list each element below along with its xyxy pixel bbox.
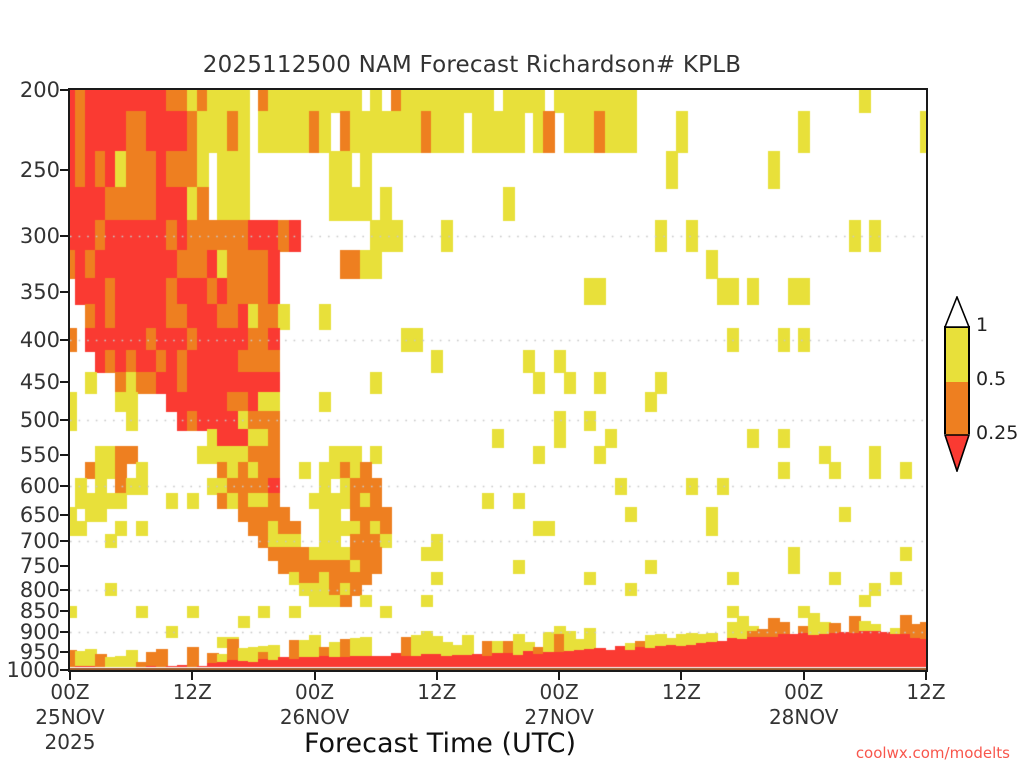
y-tick-label: 800 bbox=[2, 578, 60, 602]
y-tick-label: 250 bbox=[2, 158, 60, 182]
colorbar-tick-label: 0.25 bbox=[976, 422, 1018, 444]
heatmap-canvas bbox=[70, 90, 926, 670]
y-tick-label: 700 bbox=[2, 529, 60, 553]
x-tick-date: 27NOV bbox=[524, 705, 593, 730]
x-tick-label-group: 00Z26NOV bbox=[280, 680, 349, 730]
x-tick-time: 00Z bbox=[769, 680, 838, 705]
x-tick-time: 12Z bbox=[662, 680, 701, 705]
y-tick-mark bbox=[60, 651, 68, 653]
x-tick-label-group: 12Z bbox=[906, 680, 945, 705]
y-tick-mark bbox=[60, 485, 68, 487]
x-tick-time: 12Z bbox=[906, 680, 945, 705]
y-tick-mark bbox=[60, 514, 68, 516]
y-tick-mark bbox=[60, 631, 68, 633]
x-tick-time: 00Z bbox=[280, 680, 349, 705]
x-tick-label-group: 00Z28NOV bbox=[769, 680, 838, 730]
x-tick-mark bbox=[314, 672, 316, 680]
y-tick-mark bbox=[60, 169, 68, 171]
x-tick-mark bbox=[191, 672, 193, 680]
y-tick-mark bbox=[60, 291, 68, 293]
y-tick-label: 350 bbox=[2, 280, 60, 304]
x-tick-mark bbox=[69, 672, 71, 680]
x-tick-mark bbox=[558, 672, 560, 680]
x-tick-date: 25NOV bbox=[35, 705, 104, 730]
x-tick-mark bbox=[925, 672, 927, 680]
colorbar-tick-label: 1 bbox=[976, 314, 988, 336]
y-tick-mark bbox=[60, 419, 68, 421]
chart-title: 2025112500 NAM Forecast Richardson# KPLB bbox=[0, 52, 944, 78]
x-tick-label-group: 00Z27NOV bbox=[524, 680, 593, 730]
x-tick-date: 26NOV bbox=[280, 705, 349, 730]
y-tick-label: 400 bbox=[2, 328, 60, 352]
x-tick-mark bbox=[803, 672, 805, 680]
colorbar-legend: 10.50.25 bbox=[940, 294, 1024, 474]
y-axis: 2002503003504004505005506006507007508008… bbox=[0, 88, 60, 672]
y-tick-mark bbox=[60, 235, 68, 237]
colorbar-segment bbox=[946, 328, 968, 382]
credit-text: coolwx.com/modelts bbox=[856, 744, 1010, 762]
x-tick-time: 00Z bbox=[35, 680, 104, 705]
x-tick-time: 12Z bbox=[173, 680, 212, 705]
x-tick-label-group: 12Z bbox=[173, 680, 212, 705]
y-tick-label: 650 bbox=[2, 503, 60, 527]
y-tick-label: 750 bbox=[2, 554, 60, 578]
y-tick-label: 200 bbox=[2, 78, 60, 102]
x-tick-label-group: 12Z bbox=[662, 680, 701, 705]
y-tick-label: 500 bbox=[2, 408, 60, 432]
y-tick-label: 450 bbox=[2, 370, 60, 394]
x-tick-label-group: 12Z bbox=[417, 680, 456, 705]
colorbar-segment bbox=[946, 382, 968, 436]
y-tick-mark bbox=[60, 565, 68, 567]
colorbar-tick-label: 0.5 bbox=[976, 368, 1006, 390]
colorbar-body bbox=[944, 326, 970, 434]
y-tick-mark bbox=[60, 540, 68, 542]
colorbar-top-arrow bbox=[944, 296, 970, 328]
x-tick-time: 12Z bbox=[417, 680, 456, 705]
y-tick-mark bbox=[60, 610, 68, 612]
y-tick-mark bbox=[60, 454, 68, 456]
y-tick-mark bbox=[60, 89, 68, 91]
y-tick-mark bbox=[60, 381, 68, 383]
y-tick-label: 300 bbox=[2, 224, 60, 248]
y-tick-mark bbox=[60, 589, 68, 591]
chart-page: 2025112500 NAM Forecast Richardson# KPLB… bbox=[0, 0, 1024, 768]
colorbar-bottom-arrow bbox=[944, 434, 970, 472]
y-tick-mark bbox=[60, 669, 68, 671]
y-tick-label: 600 bbox=[2, 474, 60, 498]
x-axis-label: Forecast Time (UTC) bbox=[0, 728, 880, 759]
y-tick-mark bbox=[60, 339, 68, 341]
y-tick-label: 550 bbox=[2, 443, 60, 467]
x-tick-mark bbox=[680, 672, 682, 680]
y-tick-label: 1000 bbox=[2, 658, 60, 682]
x-tick-time: 00Z bbox=[524, 680, 593, 705]
x-tick-date: 28NOV bbox=[769, 705, 838, 730]
x-tick-mark bbox=[436, 672, 438, 680]
plot-area bbox=[68, 88, 928, 672]
